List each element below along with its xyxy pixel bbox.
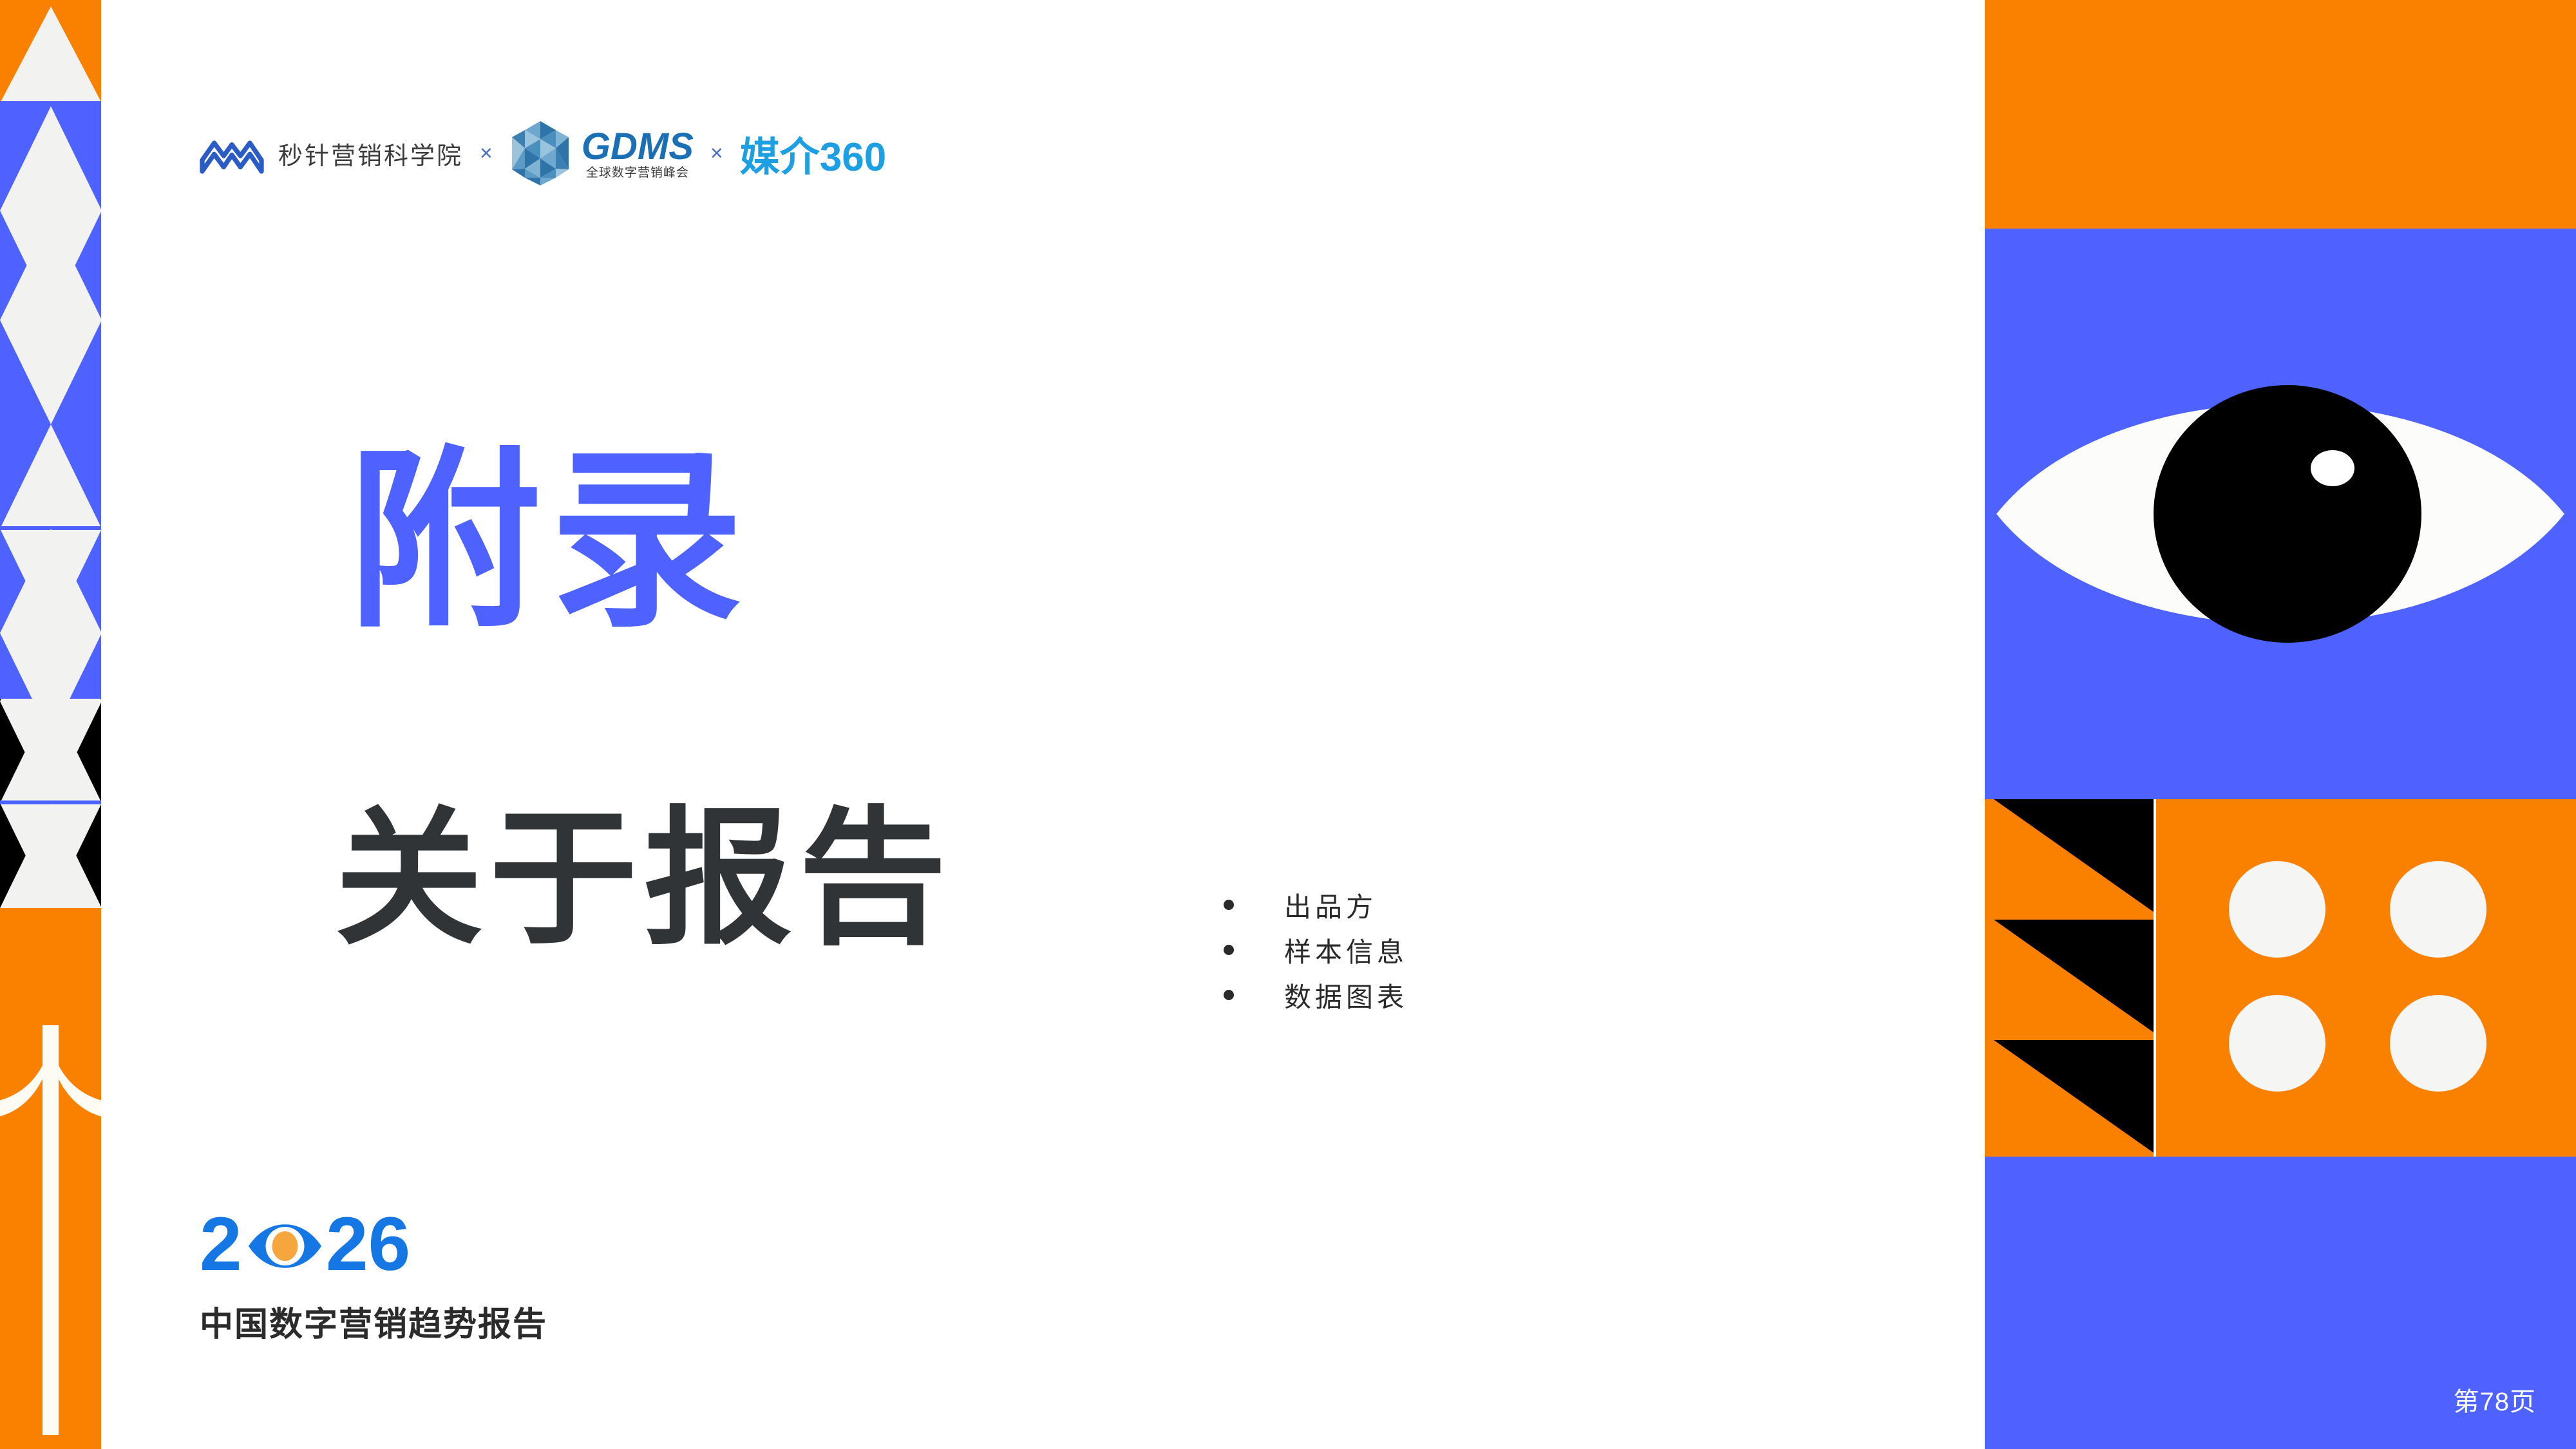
svg-text:2: 2 xyxy=(200,1211,242,1282)
logo-gdms-sublabel: 全球数字营销峰会 xyxy=(586,167,689,179)
logo-separator-2: × xyxy=(710,141,723,166)
left-decor-strip xyxy=(0,0,101,1449)
agenda-bullet-list: 出品方 样本信息 数据图表 xyxy=(1224,882,1408,1018)
logo-miaozhen: 秒针营销科学院 xyxy=(200,130,463,176)
circle-dot-icon xyxy=(2390,861,2486,958)
partner-logo-bar: 秒针营销科学院 × xyxy=(200,115,886,192)
logo-separator-1: × xyxy=(480,141,493,166)
chevron-mountain-icon xyxy=(200,130,264,176)
diamond-icon xyxy=(0,804,101,908)
triangle-up-icon xyxy=(0,6,101,101)
right-decor-panel: 第78页 xyxy=(1985,0,2576,1449)
logo-gdms-words: GDMS 全球数字营销峰会 xyxy=(582,128,694,179)
left-band-orange-top xyxy=(0,0,101,101)
eye-zero-icon: 2 26 xyxy=(200,1211,438,1282)
bullet-dot-icon xyxy=(1224,990,1234,1000)
list-item[interactable]: 出品方 xyxy=(1224,882,1408,927)
page-subtitle: 关于报告 xyxy=(335,805,953,953)
logo-mediajie-label: 媒介360 xyxy=(740,124,886,182)
list-item[interactable]: 数据图表 xyxy=(1224,972,1408,1018)
list-item-label: 出品方 xyxy=(1284,885,1377,925)
list-item-label: 样本信息 xyxy=(1284,931,1408,970)
diamond-icon xyxy=(0,216,101,424)
right-triangle-column xyxy=(1985,799,2154,1157)
list-item-label: 数据图表 xyxy=(1284,976,1408,1015)
eye-icon xyxy=(1985,229,2576,799)
logo-gdms-label: GDMS xyxy=(582,128,694,166)
report-name: 中国数字营销趋势报告 xyxy=(200,1297,547,1345)
brand-year-logo: 2 26 xyxy=(200,1211,547,1282)
circle-dot-icon xyxy=(2390,995,2486,1092)
arrow-up-icon xyxy=(0,908,101,1449)
bullet-dot-icon xyxy=(1224,900,1234,910)
hexagon-facet-icon xyxy=(509,118,571,188)
slide-root: 第78页 秒针营销科学院 × xyxy=(0,0,2576,1449)
page-number: 第78页 xyxy=(2454,1381,2537,1418)
left-band-blue xyxy=(0,101,101,699)
circle-dot-icon xyxy=(2229,995,2325,1092)
logo-gdms: GDMS 全球数字营销峰会 xyxy=(509,118,694,188)
bullet-dot-icon xyxy=(1224,945,1234,955)
report-brand-block: 2 26 中国数字营销趋势报告 xyxy=(200,1211,547,1345)
left-band-orange-bottom xyxy=(0,908,101,1449)
black-triangles-icon xyxy=(1985,799,2154,1157)
svg-text:26: 26 xyxy=(326,1211,410,1282)
logo-miaozhen-label: 秒针营销科学院 xyxy=(278,136,463,171)
right-block-eye xyxy=(1985,229,2576,799)
page-title: 附录 xyxy=(348,444,752,638)
right-dots-square xyxy=(2156,799,2576,1157)
diamond-icon xyxy=(0,529,101,699)
list-item[interactable]: 样本信息 xyxy=(1224,927,1408,972)
left-band-black xyxy=(0,699,101,908)
circle-dot-icon xyxy=(2229,861,2325,958)
right-block-orange-top xyxy=(1985,0,2576,229)
